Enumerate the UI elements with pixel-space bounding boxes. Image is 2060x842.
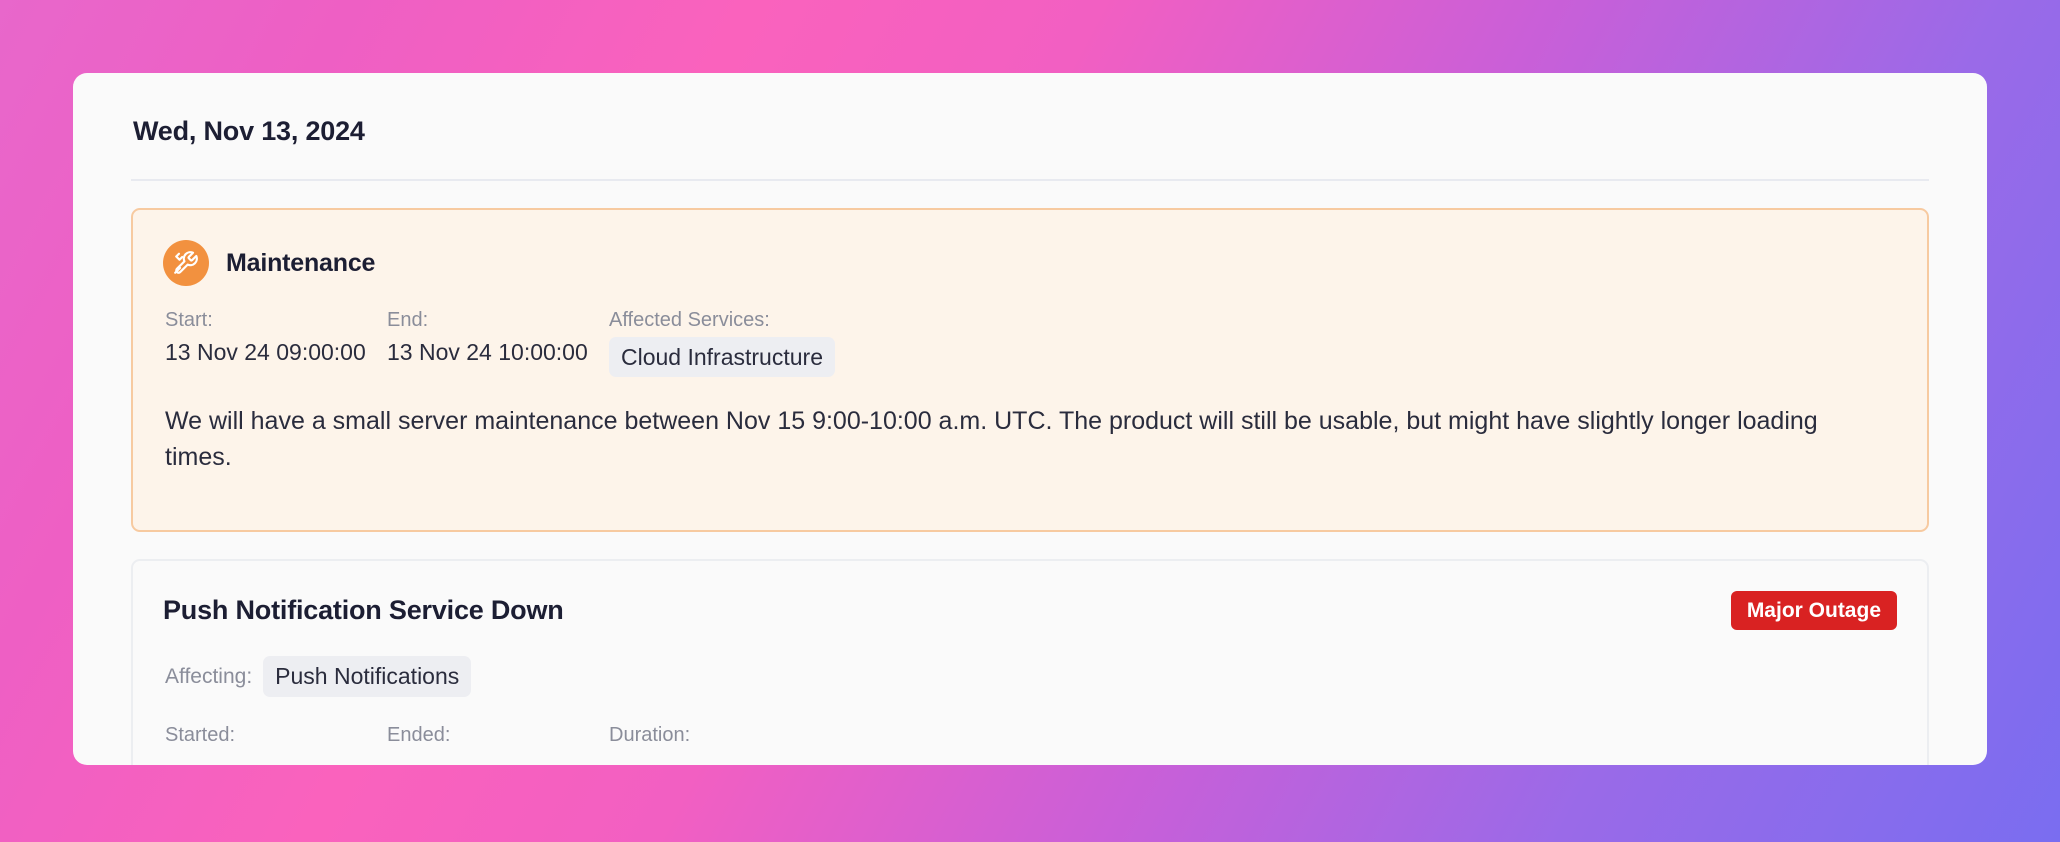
affecting-label: Affecting: bbox=[165, 665, 252, 689]
incident-duration-label: Duration: bbox=[609, 723, 690, 747]
affecting-chip[interactable]: Push Notifications bbox=[263, 656, 471, 696]
maintenance-end-label: End: bbox=[387, 308, 609, 332]
status-day-panel: Wed, Nov 13, 2024 Maintenance Start: 13 … bbox=[73, 73, 1987, 765]
status-badge: Major Outage bbox=[1731, 591, 1897, 630]
maintenance-header: Maintenance bbox=[163, 240, 1895, 286]
tools-icon bbox=[163, 240, 209, 286]
maintenance-services-label: Affected Services: bbox=[609, 308, 835, 332]
date-divider bbox=[131, 179, 1929, 181]
page-background: Wed, Nov 13, 2024 Maintenance Start: 13 … bbox=[0, 0, 2060, 842]
maintenance-body-text: We will have a small server maintenance … bbox=[163, 403, 1885, 475]
incident-affecting-row: Affecting: Push Notifications bbox=[163, 656, 1897, 696]
maintenance-start-label: Start: bbox=[165, 308, 387, 332]
incident-ended-label: Ended: bbox=[387, 723, 609, 747]
incident-title: Push Notification Service Down bbox=[163, 595, 564, 626]
incident-duration-block: Duration: bbox=[609, 723, 690, 747]
incident-started-block: Started: bbox=[165, 723, 387, 747]
maintenance-end-block: End: 13 Nov 24 10:00:00 bbox=[387, 308, 609, 367]
maintenance-end-value: 13 Nov 24 10:00:00 bbox=[387, 339, 609, 367]
incident-header: Push Notification Service Down Major Out… bbox=[163, 591, 1897, 630]
service-chip[interactable]: Cloud Infrastructure bbox=[609, 337, 835, 377]
incident-started-label: Started: bbox=[165, 723, 387, 747]
incident-meta-row: Started: Ended: Duration: bbox=[163, 723, 1897, 747]
date-heading: Wed, Nov 13, 2024 bbox=[131, 73, 1929, 147]
maintenance-card[interactable]: Maintenance Start: 13 Nov 24 09:00:00 En… bbox=[131, 208, 1929, 532]
incident-card[interactable]: Push Notification Service Down Major Out… bbox=[131, 559, 1929, 765]
incident-ended-block: Ended: bbox=[387, 723, 609, 747]
maintenance-start-value: 13 Nov 24 09:00:00 bbox=[165, 339, 387, 367]
maintenance-title: Maintenance bbox=[226, 249, 375, 278]
maintenance-start-block: Start: 13 Nov 24 09:00:00 bbox=[165, 308, 387, 367]
maintenance-meta-row: Start: 13 Nov 24 09:00:00 End: 13 Nov 24… bbox=[163, 308, 1895, 377]
maintenance-services-block: Affected Services: Cloud Infrastructure bbox=[609, 308, 835, 377]
